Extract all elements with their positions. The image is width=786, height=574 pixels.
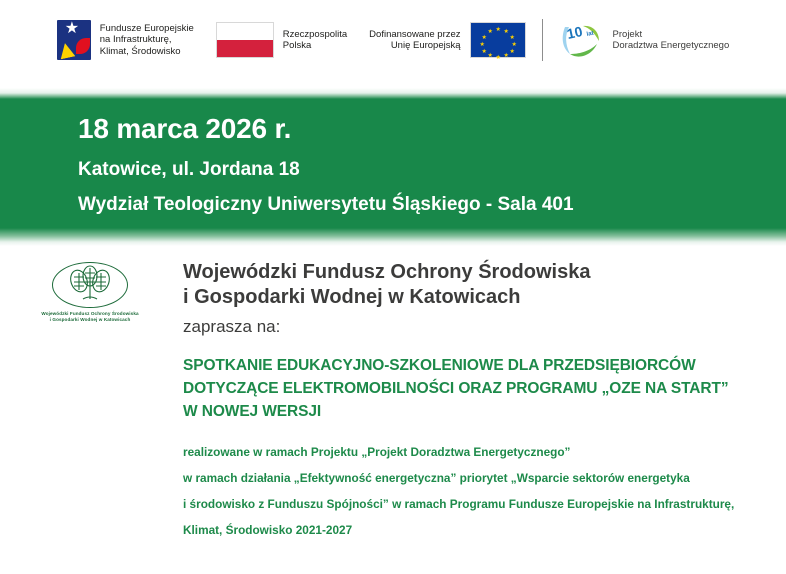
projekt-doradztwa-logo: 10 lat Projekt Doradztwa Energetycznego [559, 20, 730, 60]
projekt-line-1: Projekt [613, 29, 730, 40]
funding-note: realizowane w ramach Projektu „Projekt D… [183, 439, 783, 543]
wfosigw-emblem-icon [52, 262, 128, 308]
event-address: Katowice, ul. Jordana 18 [78, 159, 786, 181]
invitation-text: zaprasza na: [183, 316, 783, 338]
event-title-line-2: DOTYCZĄCE ELEKTROMOBILNOŚCI ORAZ PROGRAM… [183, 377, 783, 400]
red-arc-shape [76, 38, 90, 54]
organizer-line-1: Wojewódzki Fundusz Ochrony Środowiska [183, 260, 783, 285]
polish-flag-icon [216, 22, 274, 58]
event-venue: Wydział Teologiczny Uniwersytetu Śląskie… [78, 194, 786, 216]
unia-europejska-label: Dofinansowane przez Unię Europejską [369, 29, 460, 52]
rzeczpospolita-polska-logo: Rzeczpospolita Polska [216, 22, 347, 58]
event-title-line-1: SPOTKANIE EDUKACYJNO-SZKOLENIOWE DLA PRZ… [183, 354, 783, 377]
fundusze-line-3: Klimat, Środowisko [100, 46, 194, 57]
wfosigw-caption-line-2: i Gospodarki Wodnej w Katowicach [34, 317, 146, 323]
announcement-body: Wojewódzki Fundusz Ochrony Środowiska i … [183, 260, 783, 543]
event-title: SPOTKANIE EDUKACYJNO-SZKOLENIOWE DLA PRZ… [183, 354, 783, 423]
svg-text:lat: lat [586, 31, 594, 38]
logo-divider [542, 19, 543, 61]
event-title-line-3: W NOWEJ WERSJI [183, 400, 783, 423]
fundusze-europejskie-logo: Fundusze Europejskie na Infrastrukturę, … [57, 20, 194, 60]
wfosigw-leaves-svg [53, 263, 127, 307]
funding-logo-bar: Fundusze Europejskie na Infrastrukturę, … [0, 0, 786, 80]
unia-line-2: Unię Europejską [369, 40, 460, 51]
funding-note-line-1: realizowane w ramach Projektu „Projekt D… [183, 439, 783, 465]
unia-europejska-logo: Dofinansowane przez Unię Europejską [369, 22, 525, 58]
fundusze-europejskie-icon [57, 20, 91, 60]
fundusze-line-1: Fundusze Europejskie [100, 23, 194, 34]
rzeczpospolita-label: Rzeczpospolita Polska [283, 29, 347, 52]
funding-note-line-2: w ramach działania „Efektywność energety… [183, 465, 783, 491]
fundusze-line-2: na Infrastrukturę, [100, 34, 194, 45]
rzeczpospolita-line-2: Polska [283, 40, 347, 51]
rzeczpospolita-line-1: Rzeczpospolita [283, 29, 347, 40]
yellow-triangle-shape [57, 42, 75, 60]
organizer-line-2: i Gospodarki Wodnej w Katowicach [183, 285, 783, 310]
funding-note-line-3: i środowisko z Funduszu Spójności” w ram… [183, 491, 783, 517]
svg-text:10: 10 [565, 23, 584, 42]
event-banner-content: 18 marca 2026 r. Katowice, ul. Jordana 1… [0, 99, 786, 228]
leaf-svg: 10 lat [559, 20, 605, 60]
wfosigw-logo: Wojewódzki Fundusz Ochrony Środowiska i … [34, 262, 146, 323]
funding-note-line-4: Klimat, Środowisko 2021-2027 [183, 517, 783, 543]
anniversary-leaf-icon: 10 lat [559, 20, 605, 60]
projekt-doradztwa-label: Projekt Doradztwa Energetycznego [613, 29, 730, 52]
event-date: 18 marca 2026 r. [78, 113, 786, 145]
wfosigw-caption: Wojewódzki Fundusz Ochrony Środowiska i … [34, 311, 146, 323]
fundusze-europejskie-label: Fundusze Europejskie na Infrastrukturę, … [100, 23, 194, 57]
projekt-line-2: Doradztwa Energetycznego [613, 40, 730, 51]
eu-flag-icon [470, 22, 526, 58]
unia-line-1: Dofinansowane przez [369, 29, 460, 40]
event-banner: 18 marca 2026 r. Katowice, ul. Jordana 1… [0, 88, 786, 246]
